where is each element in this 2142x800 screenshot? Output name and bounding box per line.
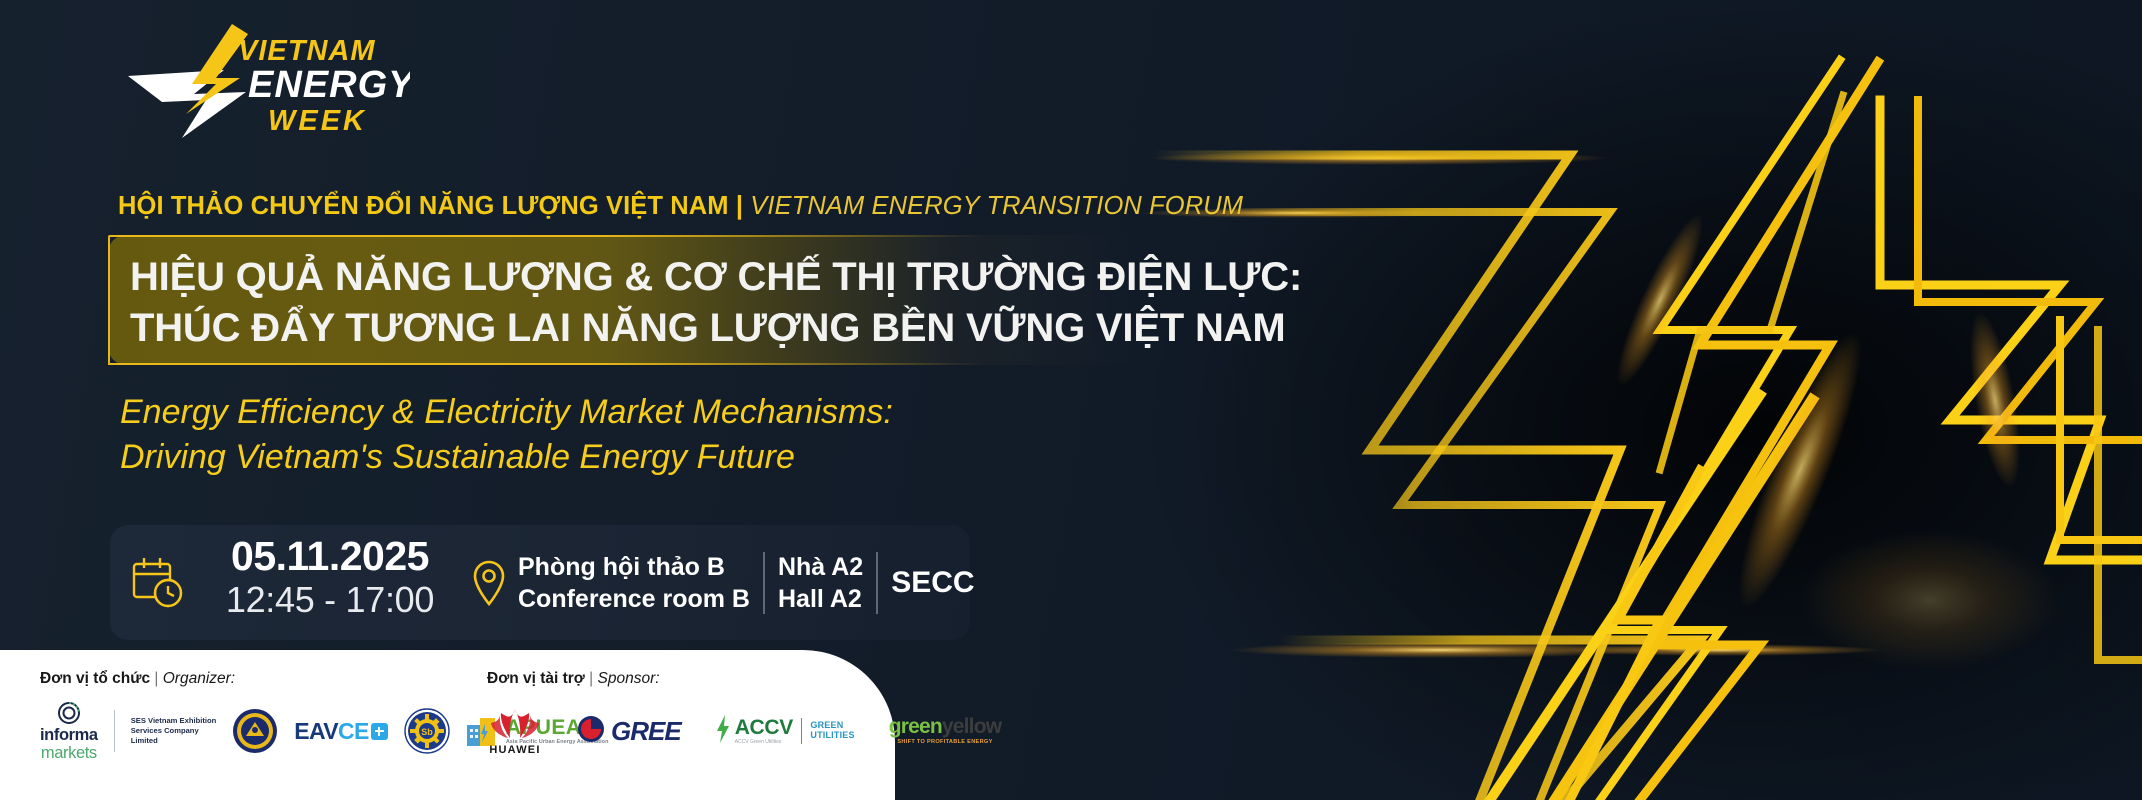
gear-seal-icon: Sb <box>404 708 450 754</box>
gree-text: GREE <box>611 716 681 747</box>
huawei-logo[interactable]: HUAWEI <box>487 707 543 756</box>
sponsor-logo-row: HUAWEI GREE <box>487 700 1001 762</box>
accv-logo[interactable]: ACCV ACCV Green Utilities GREEN UTILITIE… <box>715 714 855 749</box>
svg-text:Sb: Sb <box>421 727 433 737</box>
organizer-label-sep: | <box>154 670 158 687</box>
greenyellow-logo[interactable]: greenyellow SHIFT TO PROFITABLE ENERGY <box>889 716 1002 746</box>
accv-subtext: ACCV Green Utilities <box>735 740 793 745</box>
venue-hall: Nhà A2 Hall A2 <box>778 551 863 615</box>
event-info-panel: 05.11.2025 12:45 - 17:00 Phòng hội thảo … <box>110 525 970 640</box>
seal-icon <box>232 708 278 754</box>
eavced-plus-icon <box>371 723 388 740</box>
date-time-block: 05.11.2025 12:45 - 17:00 <box>200 534 460 620</box>
event-time: 12:45 - 17:00 <box>200 580 460 620</box>
informa-swirl-icon <box>54 701 84 727</box>
subtitle-line-2: Driving Vietnam's Sustainable Energy Fut… <box>120 435 893 480</box>
venue-divider-1 <box>763 552 765 614</box>
venue-room-en: Conference room B <box>518 583 750 615</box>
sponsor-label-sep: | <box>589 670 593 687</box>
venue-hall-en: Hall A2 <box>778 583 863 615</box>
accv-utilities-text: UTILITIES <box>810 731 854 741</box>
eyebrow-en: VIETNAM ENERGY TRANSITION FORUM <box>750 192 1243 220</box>
informa-divider <box>114 710 115 752</box>
eavced-text-b: CE <box>338 718 369 745</box>
eyebrow-vi: HỘI THẢO CHUYỂN ĐỔI NĂNG LƯỢNG VIỆT NAM <box>118 192 729 220</box>
event-banner: VIETNAM ENERGY WEEK HỘI THẢO CHUYỂN ĐỔI … <box>0 0 2142 800</box>
forum-eyebrow: HỘI THẢO CHUYỂN ĐỔI NĂNG LƯỢNG VIỆT NAM … <box>118 192 1243 221</box>
svg-text:WEEK: WEEK <box>268 105 367 137</box>
english-subtitle: Energy Efficiency & Electricity Market M… <box>120 390 893 480</box>
sponsor-label-en: Sponsor: <box>598 670 660 687</box>
vietnam-energy-seal-logo[interactable] <box>232 708 278 754</box>
sponsor-footer: Đơn vị tổ chức | Organizer: informa m <box>0 650 895 800</box>
accv-bolt-icon <box>715 714 731 749</box>
svg-text:ENERGY: ENERGY <box>248 64 410 106</box>
huawei-flower-icon <box>487 707 543 741</box>
accv-text: ACCV <box>735 717 793 738</box>
sponsor-group: Đơn vị tài trợ | Sponsor: HUAWEI <box>487 670 1001 762</box>
greenyellow-green-text: green <box>889 715 942 738</box>
venue-block: Phòng hội thảo B Conference room B Nhà A… <box>518 543 975 623</box>
greenyellow-yellow-text: yellow <box>942 715 1001 738</box>
venue-room-vi: Phòng hội thảo B <box>518 551 750 583</box>
eavced-text-a: EAV <box>294 718 338 745</box>
main-title-line-1: HIỆU QUẢ NĂNG LƯỢNG & CƠ CHẾ THỊ TRƯỜNG … <box>130 257 1302 297</box>
informa-markets-logo[interactable]: informa markets SES Vietnam Exhibition S… <box>40 701 216 762</box>
gree-mark-icon <box>577 715 605 748</box>
organizer-label-vi: Đơn vị tổ chức <box>40 670 150 687</box>
event-date: 05.11.2025 <box>200 534 460 580</box>
informa-text-2: markets <box>41 745 97 762</box>
calendar-clock-icon <box>130 555 186 611</box>
subtitle-line-1: Energy Efficiency & Electricity Market M… <box>120 390 893 435</box>
huawei-text: HUAWEI <box>489 744 540 756</box>
gree-logo[interactable]: GREE <box>577 715 681 748</box>
ses-vietnam-text: SES Vietnam Exhibition Services Company … <box>131 716 217 746</box>
organizer-label-en: Organizer: <box>163 670 235 687</box>
main-title-panel: HIỆU QUẢ NĂNG LƯỢNG & CƠ CHẾ THỊ TRƯỜNG … <box>108 235 1243 365</box>
informa-text-1: informa <box>40 727 98 744</box>
venue-room: Phòng hội thảo B Conference room B <box>518 551 750 615</box>
map-pin-icon <box>470 558 508 606</box>
vietnam-energy-week-logo: VIETNAM ENERGY WEEK <box>120 18 410 138</box>
sponsor-label: Đơn vị tài trợ | Sponsor: <box>487 670 1001 688</box>
venue-hall-vi: Nhà A2 <box>778 551 863 583</box>
gear-seal-logo[interactable]: Sb <box>404 708 450 754</box>
venue-divider-2 <box>876 552 878 614</box>
sponsor-label-vi: Đơn vị tài trợ <box>487 670 585 687</box>
accv-divider <box>801 718 802 744</box>
venue-name: SECC <box>891 568 974 598</box>
svg-text:VIETNAM: VIETNAM <box>238 35 376 67</box>
main-title-line-2: THÚC ĐẨY TƯƠNG LAI NĂNG LƯỢNG BỀN VỮNG V… <box>130 308 1285 348</box>
eyebrow-divider: | <box>729 192 751 220</box>
eavced-logo[interactable]: EAVCE <box>294 718 388 745</box>
greenyellow-tagline: SHIFT TO PROFITABLE ENERGY <box>897 740 992 746</box>
